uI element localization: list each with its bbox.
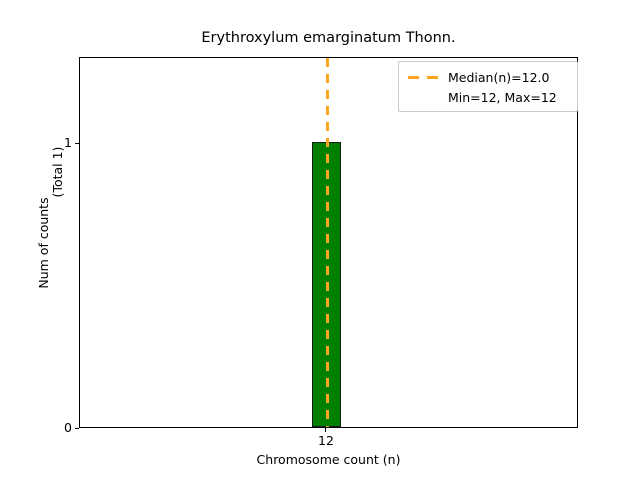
dashed-line-icon [408,76,446,79]
legend-row-minmax: Min=12, Max=12 [406,87,570,107]
x-tick-mark-12 [325,428,326,432]
y-axis-label-total: (Total 1) [51,72,65,272]
y-tick-mark-0 [75,428,79,429]
y-axis-label: Num of counts [37,143,51,343]
legend-swatch-wrap [406,76,448,79]
legend-label-median: Median(n)=12.0 [448,70,549,85]
median-reference-line [326,58,329,428]
chart-figure: Erythroxylum emarginatum Thonn. 1 0 12 C… [0,0,640,480]
plot-area [79,57,578,428]
x-axis-label: Chromosome count (n) [79,452,578,467]
chart-title: Erythroxylum emarginatum Thonn. [79,30,578,47]
legend-label-minmax: Min=12, Max=12 [448,90,557,105]
chart-legend: Median(n)=12.0 Min=12, Max=12 [398,61,578,112]
y-tick-label-0: 0 [32,422,72,434]
legend-row-median: Median(n)=12.0 [406,67,570,87]
x-tick-label-12: 12 [306,434,346,448]
